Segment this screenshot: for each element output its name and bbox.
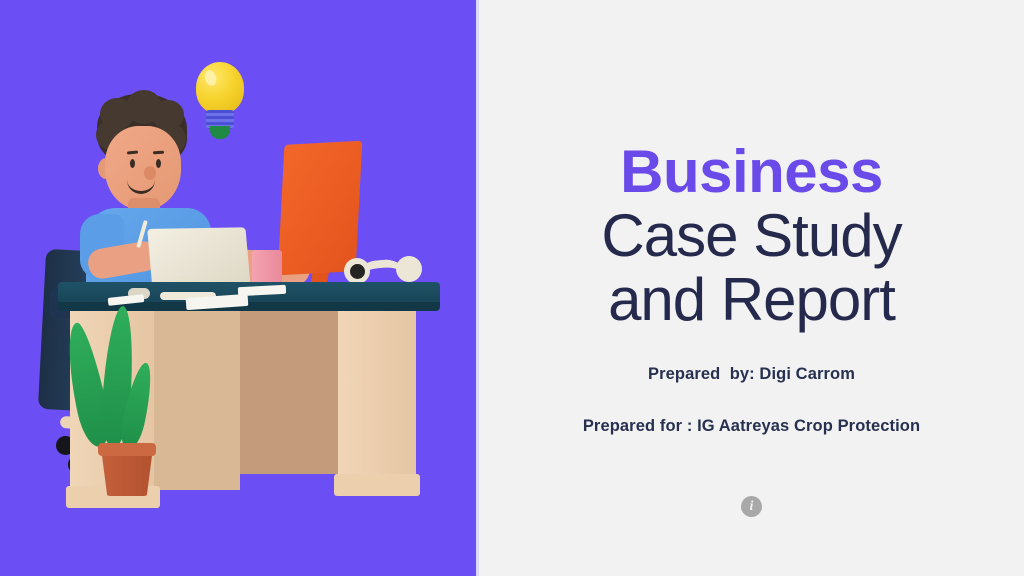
content-panel: Business Case Study and Report Prepared …: [479, 0, 1024, 576]
headphones-earpad: [350, 264, 365, 279]
lightbulb-icon: [196, 62, 244, 114]
desk-leg-right: [338, 308, 416, 484]
slide-canvas: Business Case Study and Report Prepared …: [0, 0, 1024, 576]
desk-foot: [334, 474, 420, 496]
desk-leg-middle: [152, 308, 240, 490]
subtitle-block: Prepared by: Digi Carrom Prepared for : …: [479, 365, 1024, 436]
person-eye: [130, 159, 135, 168]
title-line-two: Case Study: [479, 204, 1024, 268]
lightbulb-tip: [210, 126, 230, 139]
illustration-panel: [0, 0, 476, 576]
title-line-three: and Report: [479, 268, 1024, 332]
prepared-for-text: Prepared for : IG Aatreyas Crop Protecti…: [479, 417, 1024, 436]
title-line-accent: Business: [479, 140, 1024, 204]
person-eyebrow: [153, 151, 164, 155]
plant-pot-rim: [98, 443, 156, 456]
info-icon[interactable]: i: [741, 496, 762, 517]
prepared-by-text: Prepared by: Digi Carrom: [479, 365, 1024, 384]
person-eye: [156, 159, 161, 168]
orange-monitor: [278, 141, 363, 276]
page-title: Business Case Study and Report: [479, 140, 1024, 332]
headphones-earcup: [396, 256, 422, 282]
footer-icon-area: i: [479, 496, 1024, 517]
